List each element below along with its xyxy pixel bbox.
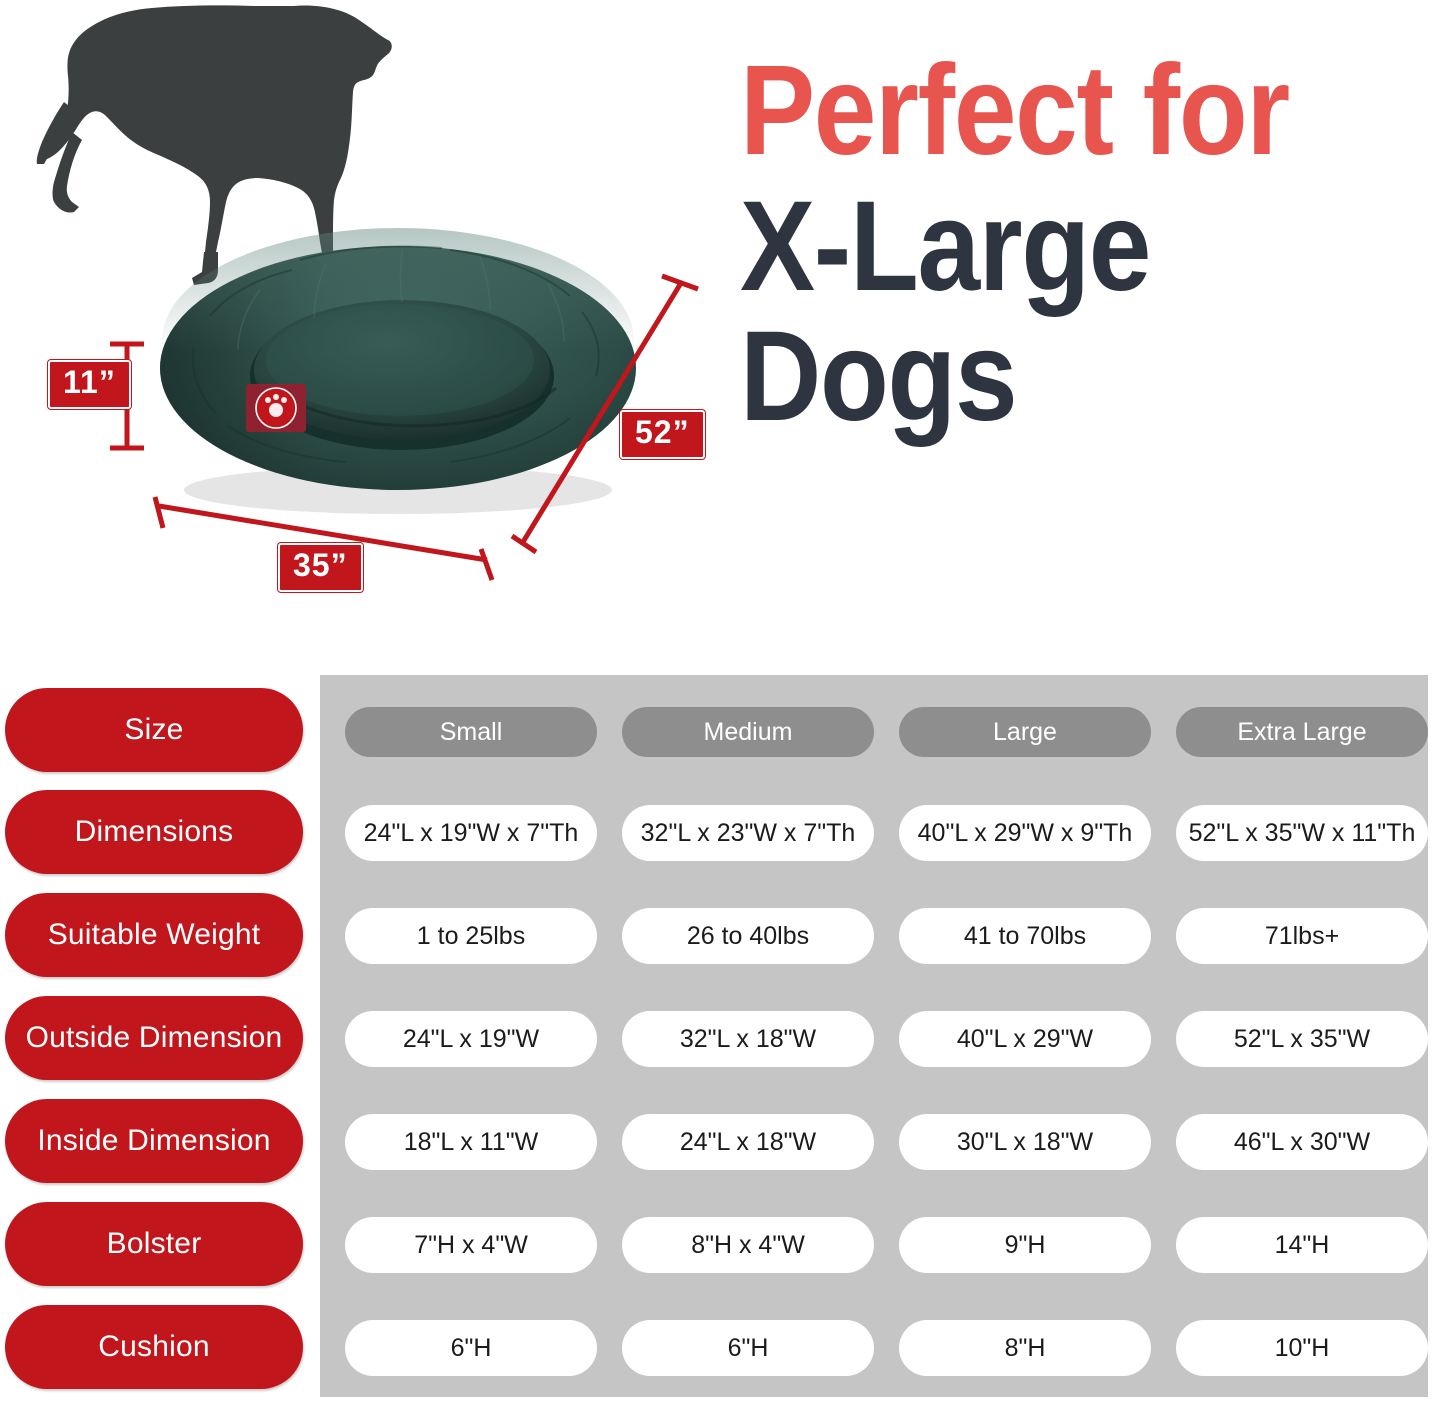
row-label-column: SizeDimensionsSuitable WeightOutside Dim… — [0, 672, 310, 1394]
table-cell: 18"L x 11"W — [345, 1114, 597, 1170]
dimension-callout-height: 11” — [48, 360, 131, 409]
dimension-callout-width: 35” — [278, 543, 363, 592]
table-cell: 32"L x 18"W — [622, 1011, 874, 1067]
table-cell: 26 to 40lbs — [622, 908, 874, 964]
column-header-small: Small — [345, 707, 597, 757]
headline-line-2: X-Large — [740, 188, 1356, 306]
headline-line-3: Dogs — [740, 318, 1356, 436]
page-title: Perfect for X-Large Dogs — [740, 52, 1440, 435]
table-cell: 40"L x 29"W — [899, 1011, 1151, 1067]
table-cell: 10"H — [1176, 1320, 1428, 1376]
row-label-suitable-weight: Suitable Weight — [5, 893, 303, 977]
table-cell: 40"L x 29"W x 9"Th — [899, 805, 1151, 861]
table-cell: 46"L x 30"W — [1176, 1114, 1428, 1170]
dimension-lines — [0, 0, 740, 620]
table-cell: 24"L x 18"W — [622, 1114, 874, 1170]
column-header-large: Large — [899, 707, 1151, 757]
table-cell: 6"H — [345, 1320, 597, 1376]
table-cell: 14"H — [1176, 1217, 1428, 1273]
table-cell: 9"H — [899, 1217, 1151, 1273]
table-cell: 32"L x 23"W x 7"Th — [622, 805, 874, 861]
row-label-bolster: Bolster — [5, 1202, 303, 1286]
table-cell: 1 to 25lbs — [345, 908, 597, 964]
table-cell: 24"L x 19"W — [345, 1011, 597, 1067]
table-cell: 8"H — [899, 1320, 1151, 1376]
headline-line-1: Perfect for — [740, 52, 1356, 170]
table-cell: 8"H x 4"W — [622, 1217, 874, 1273]
table-cell: 6"H — [622, 1320, 874, 1376]
size-chart-table: SizeDimensionsSuitable WeightOutside Dim… — [0, 672, 1445, 1410]
table-cell: 52"L x 35"W — [1176, 1011, 1428, 1067]
table-grid: SmallMediumLargeExtra Large24"L x 19"W x… — [320, 675, 1428, 1397]
row-label-dimensions: Dimensions — [5, 790, 303, 874]
hero-section: Perfect for X-Large Dogs 11” 52” 35” — [0, 0, 1445, 660]
table-cell: 24"L x 19"W x 7"Th — [345, 805, 597, 861]
table-cell: 71lbs+ — [1176, 908, 1428, 964]
table-cell: 30"L x 18"W — [899, 1114, 1151, 1170]
row-label-outside-dimension: Outside Dimension — [5, 996, 303, 1080]
table-cell: 7"H x 4"W — [345, 1217, 597, 1273]
row-label-inside-dimension: Inside Dimension — [5, 1099, 303, 1183]
table-cell: 52"L x 35"W x 11"Th — [1176, 805, 1428, 861]
row-label-cushion: Cushion — [5, 1305, 303, 1389]
column-header-medium: Medium — [622, 707, 874, 757]
dimension-callout-length: 52” — [620, 410, 705, 459]
column-header-extra-large: Extra Large — [1176, 707, 1428, 757]
row-label-size: Size — [5, 688, 303, 772]
table-cell: 41 to 70lbs — [899, 908, 1151, 964]
